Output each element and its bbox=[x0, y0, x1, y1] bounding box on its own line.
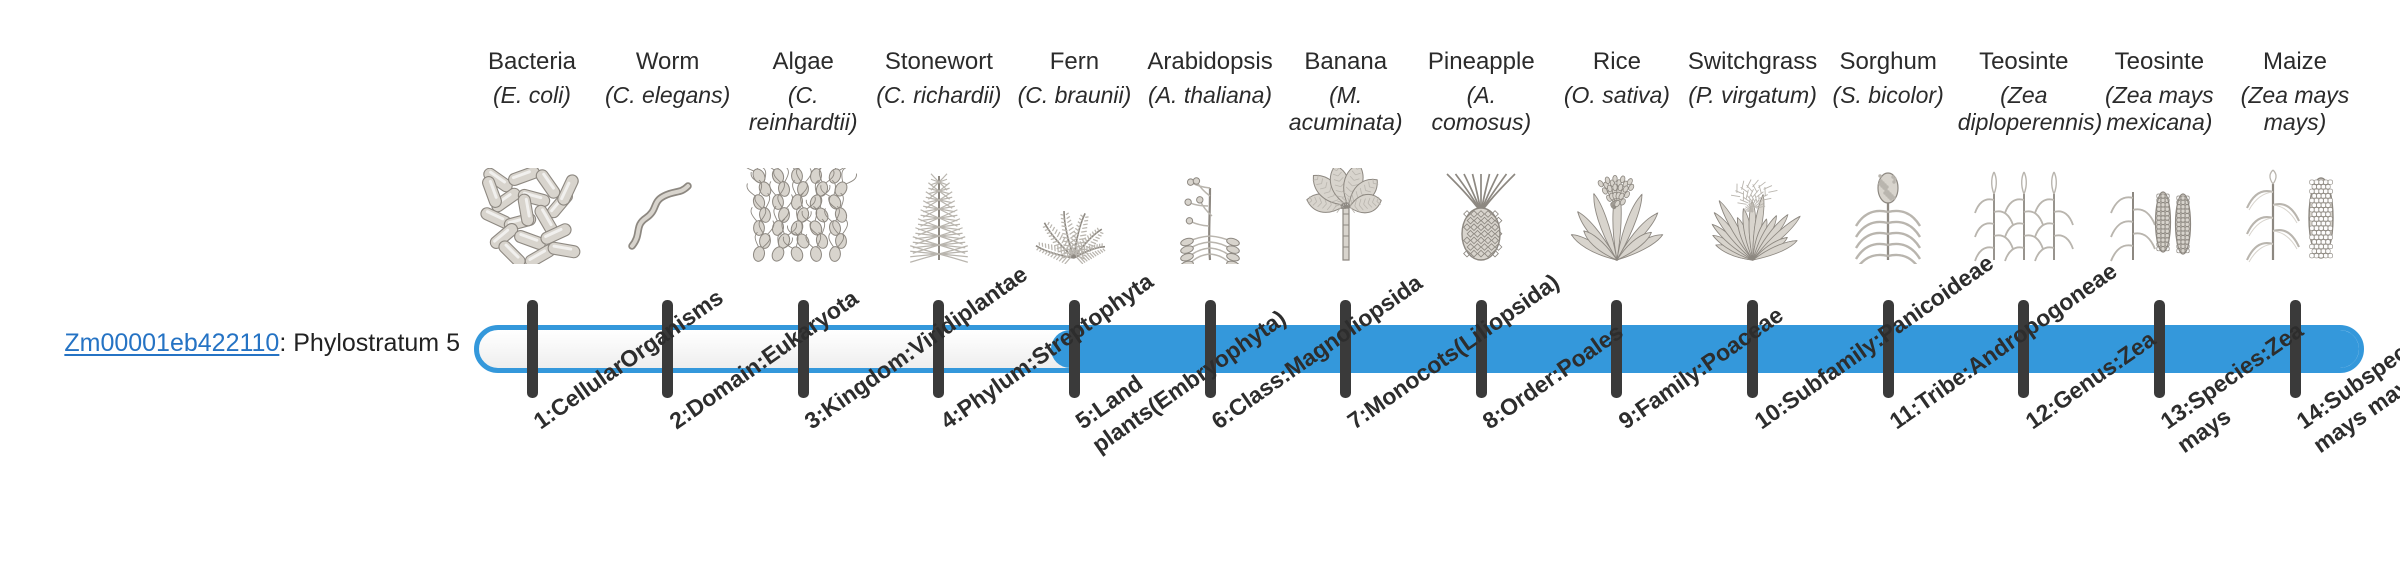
species-common-name: Banana bbox=[1280, 48, 1412, 76]
species-latin-name: (Zea mays mexicana) bbox=[2093, 82, 2225, 136]
phylostratum-line: Land plants bbox=[1088, 370, 1158, 458]
pineapple-icon bbox=[1421, 168, 1541, 264]
species-latin-name: (M. acuminata) bbox=[1280, 82, 1412, 136]
species-latin-name: (Zea mays mays) bbox=[2229, 82, 2361, 136]
species-column: Fern(C. braunii) bbox=[1008, 48, 1140, 109]
species-latin-name: (O. sativa) bbox=[1551, 82, 1683, 109]
species-common-name: Switchgrass bbox=[1687, 48, 1819, 76]
gene-caption-separator: : bbox=[279, 329, 293, 357]
phylostratum-figure: Zm00001eb422110: Phylostratum 5 Bacteria… bbox=[0, 0, 2400, 580]
species-latin-name: (S. bicolor) bbox=[1822, 82, 1954, 109]
species-latin-name: (C. reinhardtii) bbox=[737, 82, 869, 136]
species-common-name: Algae bbox=[737, 48, 869, 76]
algae-icon bbox=[743, 168, 863, 264]
species-column: Switchgrass(P. virgatum) bbox=[1687, 48, 1819, 109]
species-column: Stonewort(C. richardii) bbox=[873, 48, 1005, 109]
species-column: Algae(C. reinhardtii) bbox=[737, 48, 869, 137]
gene-id-link[interactable]: Zm00001eb422110 bbox=[64, 329, 279, 357]
species-column: Pineapple(A. comosus) bbox=[1415, 48, 1547, 137]
maize-icon bbox=[2235, 168, 2355, 264]
species-column: Arabidopsis(A. thaliana) bbox=[1144, 48, 1276, 109]
rice-icon bbox=[1557, 168, 1677, 264]
species-column: Sorghum(S. bicolor) bbox=[1822, 48, 1954, 109]
fern-icon bbox=[1014, 168, 1134, 264]
arabidopsis-icon bbox=[1150, 168, 1270, 264]
teosinte-mex-icon bbox=[2099, 168, 2219, 264]
species-column: Rice(O. sativa) bbox=[1551, 48, 1683, 109]
species-column: Banana(M. acuminata) bbox=[1280, 48, 1412, 137]
species-latin-name: (P. virgatum) bbox=[1687, 82, 1819, 109]
species-common-name: Teosinte bbox=[2093, 48, 2225, 76]
stonewort-icon bbox=[879, 168, 999, 264]
phylostratum-tick[interactable] bbox=[527, 300, 538, 398]
gene-phylostratum-value: Phylostratum 5 bbox=[293, 329, 460, 357]
bacteria-icon bbox=[472, 168, 592, 264]
species-common-name: Maize bbox=[2229, 48, 2361, 76]
species-common-name: Teosinte bbox=[1958, 48, 2090, 76]
sorghum-icon bbox=[1828, 168, 1948, 264]
species-latin-name: (A. thaliana) bbox=[1144, 82, 1276, 109]
worm-icon bbox=[608, 168, 728, 264]
species-common-name: Worm bbox=[602, 48, 734, 76]
species-common-name: Pineapple bbox=[1415, 48, 1547, 76]
species-latin-name: (C. braunii) bbox=[1008, 82, 1140, 109]
gene-caption: Zm00001eb422110: Phylostratum 5 bbox=[40, 330, 460, 358]
banana-icon bbox=[1286, 168, 1406, 264]
species-column: Teosinte(Zea mays mexicana) bbox=[2093, 48, 2225, 137]
species-common-name: Arabidopsis bbox=[1144, 48, 1276, 76]
species-column: Maize(Zea mays mays) bbox=[2229, 48, 2361, 137]
species-column: Worm(C. elegans) bbox=[602, 48, 734, 109]
species-latin-name: (A. comosus) bbox=[1415, 82, 1547, 136]
switchgrass-icon bbox=[1693, 168, 1813, 264]
species-common-name: Sorghum bbox=[1822, 48, 1954, 76]
species-column: Teosinte(Zea diploperennis) bbox=[1958, 48, 2090, 137]
species-latin-name: (E. coli) bbox=[466, 82, 598, 109]
species-latin-name: (Zea diploperennis) bbox=[1958, 82, 2090, 136]
species-common-name: Bacteria bbox=[466, 48, 598, 76]
species-latin-name: (C. richardii) bbox=[873, 82, 1005, 109]
species-common-name: Rice bbox=[1551, 48, 1683, 76]
species-common-name: Fern bbox=[1008, 48, 1140, 76]
species-common-name: Stonewort bbox=[873, 48, 1005, 76]
species-column: Bacteria(E. coli) bbox=[466, 48, 598, 109]
species-latin-name: (C. elegans) bbox=[602, 82, 734, 109]
